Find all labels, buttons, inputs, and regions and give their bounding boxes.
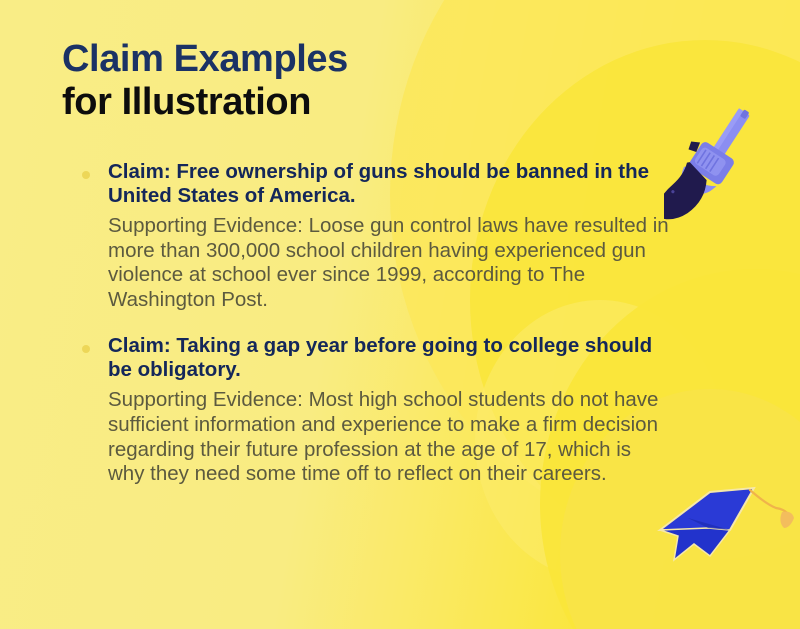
claim-body: Taking a gap year before going to colleg… <box>108 334 652 381</box>
claim-label: Claim: <box>108 334 171 357</box>
claim-group: Claim: Taking a gap year before going to… <box>80 334 670 486</box>
supporting-evidence: Supporting Evidence: Loose gun control l… <box>80 214 670 312</box>
claim-list: Claim: Free ownership of guns should be … <box>80 160 670 487</box>
title-line-primary: Claim Examples <box>62 38 622 81</box>
claim-label: Claim: <box>108 160 171 183</box>
graduation-cap-illustration <box>648 478 798 578</box>
supporting-evidence: Supporting Evidence: Most high school st… <box>80 388 670 486</box>
revolver-illustration <box>664 96 754 246</box>
title-line-secondary: for Illustration <box>62 81 622 124</box>
slide-canvas: Claim Examples for Illustration Claim: F… <box>0 0 800 629</box>
claim-statement: Claim: Taking a gap year before going to… <box>80 334 670 382</box>
claim-body: Free ownership of guns should be banned … <box>108 160 649 207</box>
slide-title: Claim Examples for Illustration <box>62 38 622 125</box>
bullet-dot-icon <box>82 171 90 179</box>
claim-group: Claim: Free ownership of guns should be … <box>80 160 670 312</box>
claim-statement: Claim: Free ownership of guns should be … <box>80 160 670 208</box>
